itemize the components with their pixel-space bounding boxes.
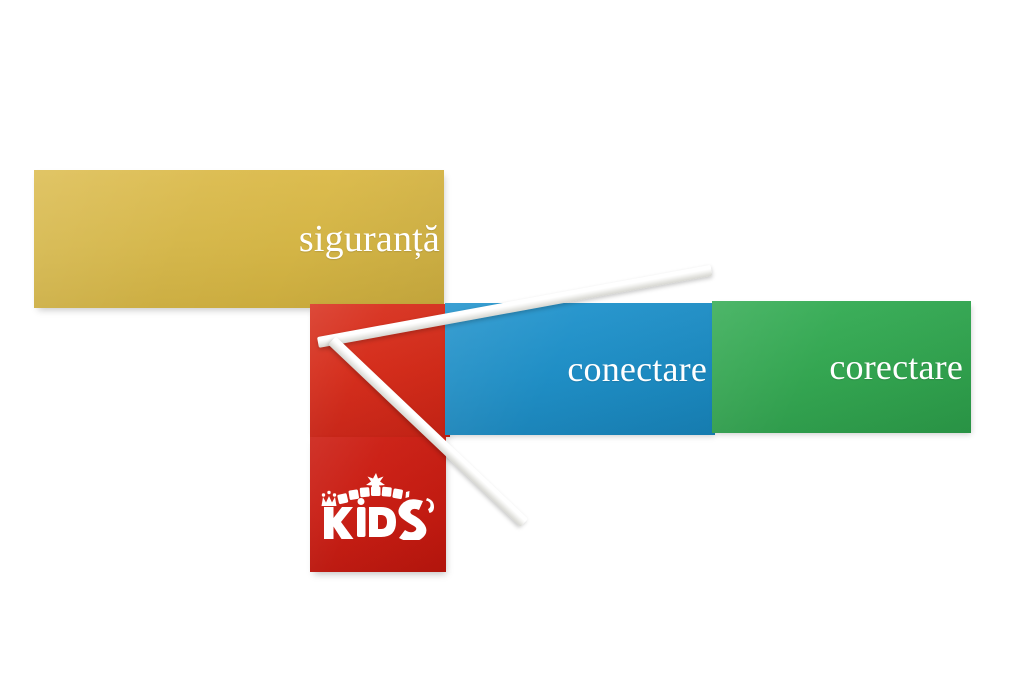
scene-canvas: siguranță conectare corectare — [0, 0, 1024, 683]
panel-corectare[interactable]: corectare — [712, 301, 971, 433]
panel-label-conectare: conectare — [567, 348, 707, 390]
tzubys-kids-logo — [316, 470, 440, 540]
panel-brand-logo[interactable] — [310, 437, 446, 572]
panel-conectare[interactable]: conectare — [445, 303, 715, 435]
panel-siguranta[interactable]: siguranță — [34, 170, 444, 308]
panel-label-corectare: corectare — [829, 346, 963, 388]
panel-label-siguranta: siguranță — [299, 217, 440, 261]
